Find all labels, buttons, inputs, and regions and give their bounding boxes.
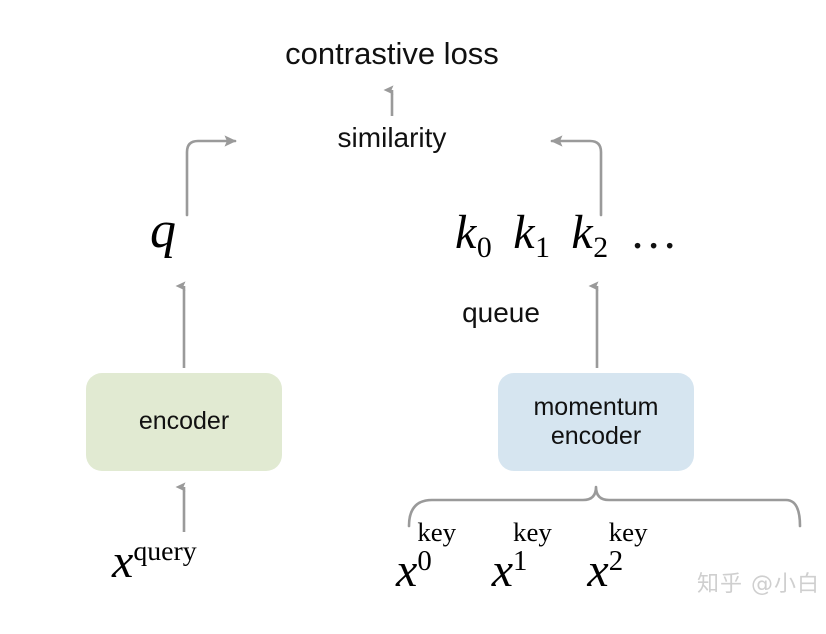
key-vectors-ellipsis: … [630,205,679,260]
momentum-encoder-line-2: encoder [551,422,641,450]
key-vector-0-base: k [455,206,476,259]
watermark-text: 知乎 @小白 [697,572,820,597]
key-input-0-subscript: 0 [417,547,431,576]
key-vector-1: k1 [513,209,549,257]
contrastive-loss-text: contrastive loss [285,38,499,69]
key-input-1-base: x [492,544,513,597]
key-vector-2: k2 [571,209,607,257]
similarity-text: similarity [338,124,447,152]
contrastive-loss-label: contrastive loss [0,38,826,69]
key-input-2-subscript: 2 [609,547,623,576]
arrow-q-to-similarity [187,141,235,215]
key-vector-0: k0 [455,209,491,257]
query-input-superscript: query [133,536,196,567]
momentum-encoder-box[interactable]: momentum encoder [498,373,694,471]
similarity-label: similarity [0,124,826,152]
query-input-base: x [112,535,133,588]
key-input-2-scripts: key2 [609,538,659,586]
key-input-0-scripts: key0 [417,538,467,586]
key-vector-0-subscript: 0 [477,231,492,264]
key-input-1-scripts: key1 [513,538,563,586]
key-inputs-brace [409,487,800,526]
queue-text: queue [462,299,540,327]
key-vector-2-subscript: 2 [593,231,608,264]
query-vector-symbol: q [150,205,176,257]
key-vector-2-base: k [571,206,592,259]
arrow-keys-to-similarity [552,141,601,215]
key-input-0: xkey0 [396,538,468,595]
key-input-1: xkey1 [492,538,564,595]
key-input-2-base: x [587,544,608,597]
key-input-1-superscript: key [513,519,552,546]
key-vector-1-subscript: 1 [535,231,550,264]
key-input-0-base: x [396,544,417,597]
encoder-box[interactable]: encoder [86,373,282,471]
momentum-encoder-box-label: momentum encoder [533,393,658,452]
key-input-0-superscript: key [417,519,456,546]
watermark: 知乎 @小白 [697,566,820,598]
key-vectors-row: k0 k1 k2 … [455,205,679,260]
diagram-canvas: contrastive loss similarity q k0 k1 k2 …… [0,0,826,634]
momentum-encoder-line-1: momentum [533,393,658,421]
key-inputs-row: xkey0 xkey1 xkey2 [396,538,683,595]
key-vector-1-base: k [513,206,534,259]
queue-label: queue [0,299,826,327]
query-vector-text: q [150,202,176,259]
query-input-symbol: xquery [112,538,197,586]
encoder-box-label: encoder [139,407,229,437]
key-input-1-subscript: 1 [513,547,527,576]
key-input-2: xkey2 [587,538,659,595]
key-input-2-superscript: key [609,519,648,546]
